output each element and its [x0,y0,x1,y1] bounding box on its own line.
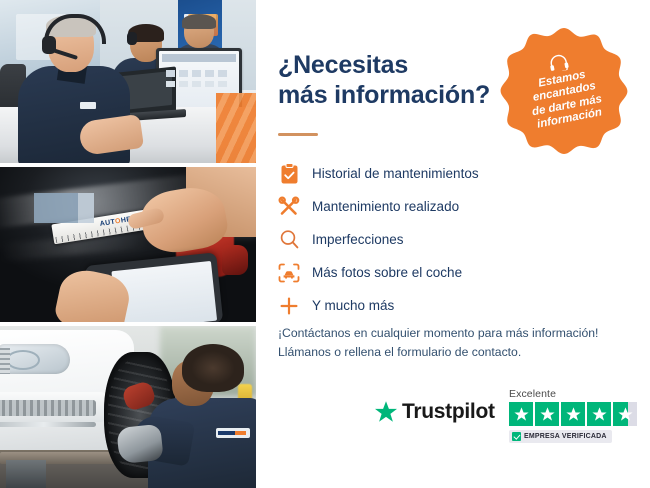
content-panel: ¿Necesitas más información? Estamos enca… [256,0,650,488]
page-title-line-1: ¿Necesitas [278,50,490,80]
star-icon [539,406,556,423]
mechanic [142,344,256,488]
mechanic-glove [116,424,164,464]
star-tile-2 [535,402,559,426]
star-tile-4 [587,402,611,426]
star-tile-3 [561,402,585,426]
monitor-screen-rows [166,70,230,92]
magnifier-icon [276,227,302,253]
contact-instructions: ¡Contáctanos en cualquier momento para m… [278,324,638,362]
orange-equipment [216,93,256,163]
car-lower-grille [0,400,96,416]
feature-label: Y mucho más [312,298,394,313]
feature-item-more-photos: Más fotos sobre el coche [276,256,546,289]
lift-post [6,460,46,488]
foreground-agent [18,18,130,163]
star-rating [509,402,641,426]
crossed-tools-icon [276,194,302,220]
page-title-line-2: más información? [278,80,490,110]
page-title: ¿Necesitas más información? [278,50,490,110]
star-icon [591,406,608,423]
photo-inspector-measuring-car-with-ruler: AUTOHERO [0,167,256,322]
contact-line-1: ¡Contáctanos en cualquier momento para m… [278,324,638,343]
photo-collage: AUTOHERO [0,0,256,488]
trustpilot-rating-block[interactable]: Trustpilot Excelente [374,388,644,450]
feature-label: Mantenimiento realizado [312,199,459,214]
photo-mechanic-checking-car-wheel [0,326,256,488]
trustpilot-logo[interactable]: Trustpilot [374,400,495,424]
trustpilot-star-icon [374,400,398,424]
car-front-grille [0,348,10,374]
promo-starburst-badge: Estamos encantados de darte más informac… [500,26,628,154]
photo-call-center-agents-with-headsets [0,0,256,163]
title-underline-rule [278,133,318,136]
rating-label: Excelente [509,388,641,400]
car-headlight [0,344,70,374]
feature-label: Historial de mantenimientos [312,166,479,181]
verified-label: EMPRESA VERIFICADA [524,433,607,440]
tablet-screen-rows [34,193,106,223]
feature-item-maintenance-done: Mantenimiento realizado [276,190,546,223]
car-photo-frame-icon [276,260,302,286]
feature-label: Más fotos sobre el coche [312,265,462,280]
feature-item-maintenance-history: Historial de mantenimientos [276,157,546,190]
feature-list: Historial de mantenimientos Mantenimient… [276,157,546,322]
clipboard-check-icon [276,161,302,187]
tail-light-secondary [222,245,248,275]
monitor-screen-header [162,54,236,62]
feature-item-much-more: Y mucho más [276,289,546,322]
star-icon [617,406,634,423]
check-icon [512,432,521,441]
car-chrome-trim [0,422,96,427]
star-icon [513,406,530,423]
star-tile-5-partial [613,402,637,426]
star-icon [565,406,582,423]
trustpilot-wordmark: Trustpilot [402,400,495,424]
starburst-shape-icon [500,26,628,154]
feature-item-imperfections: Imperfecciones [276,223,546,256]
verified-company-badge: EMPRESA VERIFICADA [509,430,612,443]
star-tile-1 [509,402,533,426]
contact-line-2: Llámanos o rellena el formulario de cont… [278,343,638,362]
trustpilot-score: Excelente [509,388,641,446]
feature-label: Imperfecciones [312,232,404,247]
mechanic-uniform-logo [216,428,250,438]
contact-promo-card: AUTOHERO [0,0,650,488]
plus-icon [276,293,302,319]
